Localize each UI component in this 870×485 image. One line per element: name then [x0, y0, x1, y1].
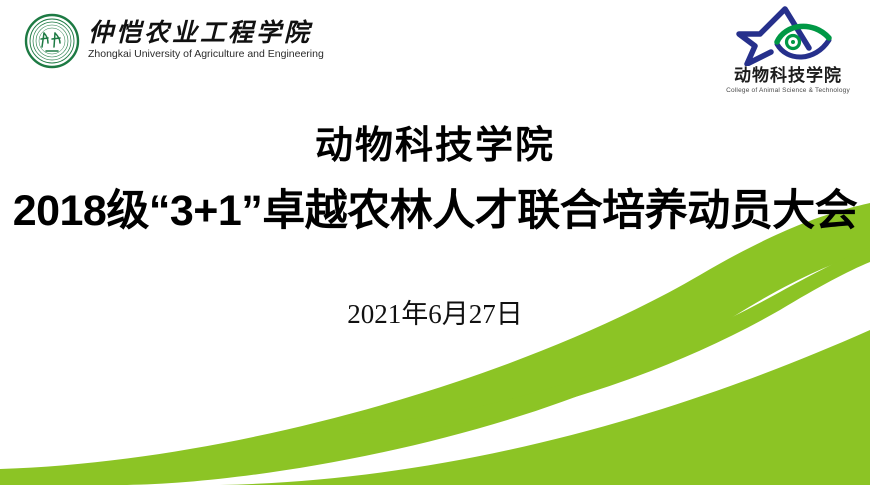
university-name-cn: 仲恺农业工程学院	[88, 21, 324, 47]
university-logo: 仲恺农业工程学院 Zhongkai University of Agricult…	[24, 10, 324, 72]
university-name-block: 仲恺农业工程学院 Zhongkai University of Agricult…	[88, 21, 324, 62]
green-thin-arc	[344, 247, 870, 434]
page-subtitle: 2018级“3+1”卓越农林人才联合培养动员大会	[0, 188, 870, 235]
green-swoosh-lower	[220, 330, 870, 485]
college-name-cn: 动物科技学院	[718, 67, 858, 86]
event-date: 2021年6月27日	[0, 300, 870, 330]
college-logo: 动物科技学院 College of Animal Science & Techn…	[718, 4, 858, 94]
university-seal-icon	[24, 13, 80, 69]
green-swoosh-upper	[0, 203, 870, 485]
college-name-en: College of Animal Science & Technology	[718, 87, 858, 95]
university-name-en: Zhongkai University of Agriculture and E…	[88, 48, 324, 62]
college-star-eye-icon	[733, 4, 843, 66]
page-title: 动物科技学院	[0, 126, 870, 168]
presentation-slide: 仲恺农业工程学院 Zhongkai University of Agricult…	[0, 0, 870, 485]
